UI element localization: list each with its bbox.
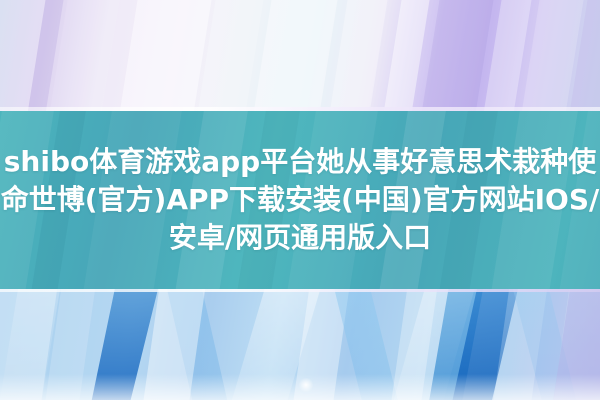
sparkle-highlight — [298, 378, 314, 392]
light-streak — [0, 0, 52, 111]
bottom-haze — [0, 374, 600, 400]
blue-chevron-band — [0, 289, 600, 400]
band-divider — [0, 289, 600, 292]
chevron-shape — [86, 289, 158, 400]
light-streak — [322, 0, 394, 111]
light-streak — [138, 289, 208, 400]
light-streak — [562, 0, 600, 111]
top-gradient-band — [0, 0, 600, 111]
chevron-shape — [392, 289, 478, 400]
chevron-shape — [552, 289, 600, 400]
chevron-shape — [330, 289, 402, 400]
light-streak — [20, 0, 70, 111]
headline-container: shibo体育游戏app平台她从事好意思术栽种使命世博(官方)APP下载安装(中… — [0, 111, 600, 289]
light-streak — [488, 289, 550, 400]
light-streak — [514, 0, 590, 111]
light-streak — [288, 289, 352, 400]
light-streak — [386, 289, 440, 400]
light-streak — [414, 0, 500, 111]
light-streak — [42, 0, 126, 111]
light-streak — [112, 0, 218, 111]
light-streak — [40, 289, 98, 400]
banner-headline: shibo体育游戏app平台她从事好意思术栽种使命世博(官方)APP下载安装(中… — [0, 143, 600, 257]
chevron-shape — [160, 289, 230, 400]
chevron-shape — [232, 289, 328, 400]
light-streak — [548, 289, 600, 400]
chevron-shape — [448, 289, 524, 400]
light-streak — [376, 0, 436, 111]
chevron-shape — [510, 289, 582, 400]
chevron-shape — [0, 289, 60, 400]
light-streak — [190, 0, 270, 111]
light-streak — [0, 289, 60, 400]
light-streak — [476, 0, 538, 111]
chevron-shape — [428, 289, 492, 400]
light-streak — [246, 0, 344, 111]
promo-banner: shibo体育游戏app平台她从事好意思术栽种使命世博(官方)APP下载安装(中… — [0, 0, 600, 400]
